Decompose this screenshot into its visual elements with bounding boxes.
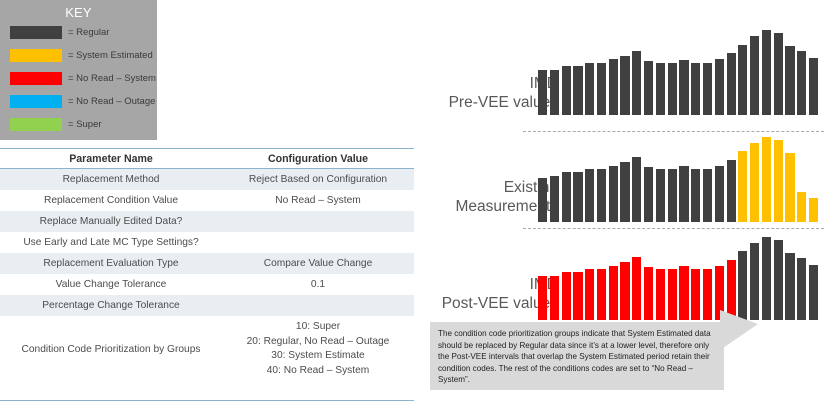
bar [632,257,641,320]
bar [774,140,783,222]
bar [538,276,547,320]
table-row: Value Change Tolerance0.1 [0,274,414,295]
bar [785,253,794,320]
bar [668,169,677,222]
bar [668,269,677,320]
key-swatch-no-read-outage [10,95,62,108]
bar [750,36,759,115]
bar [562,272,571,320]
table-row: Replacement MethodReject Based on Config… [0,169,414,191]
table-header-row: Parameter Name Configuration Value [0,149,414,169]
bar [715,59,724,115]
table-cell-configuration-value: Compare Value Change [222,253,414,274]
bar [750,143,759,222]
bar [691,63,700,115]
bar [774,33,783,115]
bar [738,151,747,222]
bar [538,178,547,222]
key-row-no-read-outage: = No Read – Outage [10,91,157,112]
bar [644,267,653,320]
bar [656,269,665,320]
chart-post-vee-bars [538,237,818,320]
bar [774,240,783,320]
table-row: Replacement Condition ValueNo Read – Sys… [0,190,414,211]
bar [797,258,806,320]
table-cell-configuration-value: Reject Based on Configuration [222,169,414,191]
bar [609,59,618,115]
chart-pre-vee-baseline [523,131,824,132]
key-label-no-read-outage: = No Read – Outage [68,96,155,107]
bar [679,60,688,115]
bar [609,166,618,222]
bar [679,266,688,320]
bar [785,153,794,222]
bar [597,269,606,320]
bar [715,166,724,222]
bar [797,192,806,222]
table-cell-parameter-name: Use Early and Late MC Type Settings? [0,232,222,253]
bar [573,66,582,115]
bar [738,45,747,115]
table-cell-parameter-name: Replacement Evaluation Type [0,253,222,274]
table-cell-configuration-value: 0.1 [222,274,414,295]
table-cell-parameter-name: Percentage Change Tolerance [0,295,222,316]
table-row: Percentage Change Tolerance [0,295,414,316]
bar [585,169,594,222]
bar [656,63,665,115]
parameter-configuration-table: Parameter Name Configuration Value Repla… [0,148,414,382]
chart-existing-bars [538,137,818,222]
key-legend-box: KEY = Regular= System Estimated= No Read… [0,0,157,140]
callout-box: The condition code prioritization groups… [430,322,724,390]
bar [809,265,818,320]
key-label-no-read-system: = No Read – System [68,73,156,84]
table-cell-parameter-name: Value Change Tolerance [0,274,222,295]
table-cell-configuration-value [222,211,414,232]
key-row-list: = Regular= System Estimated= No Read – S… [0,22,157,135]
bar [691,169,700,222]
bar [609,266,618,320]
table-row: Condition Code Prioritization by Groups1… [0,316,414,382]
table-cell-parameter-name: Condition Code Prioritization by Groups [0,316,222,382]
bar [750,243,759,320]
bar [762,30,771,115]
bar [809,198,818,222]
table-cell-configuration-value [222,232,414,253]
bar [585,63,594,115]
key-row-no-read-system: = No Read – System [10,68,157,89]
bar [550,70,559,115]
table-row: Replacement Evaluation TypeCompare Value… [0,253,414,274]
bar [597,63,606,115]
bar [550,276,559,320]
key-title: KEY [0,0,157,20]
key-row-system-estimated: = System Estimated [10,45,157,66]
table-cell-configuration-value [222,295,414,316]
bar [573,272,582,320]
bar [809,58,818,115]
bar [644,167,653,222]
key-swatch-no-read-system [10,72,62,85]
bar [620,162,629,222]
column-header-parameter-name: Parameter Name [0,149,222,169]
table-body: Replacement MethodReject Based on Config… [0,169,414,383]
table-row: Replace Manually Edited Data? [0,211,414,232]
table-cell-parameter-name: Replace Manually Edited Data? [0,211,222,232]
key-swatch-regular [10,26,62,39]
bar [656,169,665,222]
callout-pointer [720,310,758,350]
bar [762,137,771,222]
bar [573,172,582,222]
bar [703,63,712,115]
bar [727,53,736,115]
bar [727,160,736,222]
chart-pre-vee-bars [538,30,818,115]
bar [691,269,700,320]
table-row: Use Early and Late MC Type Settings? [0,232,414,253]
key-label-super: = Super [68,119,102,130]
bar [597,169,606,222]
bar [620,262,629,320]
bar [785,46,794,115]
key-swatch-super [10,118,62,131]
key-label-system-estimated: = System Estimated [68,50,153,61]
bar [585,269,594,320]
bar [550,176,559,222]
chart-existing-baseline [523,228,824,229]
bar [538,70,547,115]
key-swatch-system-estimated [10,49,62,62]
table-cell-parameter-name: Replacement Method [0,169,222,191]
bar [644,61,653,115]
bar [632,157,641,222]
table-cell-configuration-value: No Read – System [222,190,414,211]
bar [668,63,677,115]
bar [797,51,806,115]
bar [620,56,629,115]
bar [703,169,712,222]
bar [562,172,571,222]
table-bottom-rule [0,400,414,401]
bar [632,51,641,115]
table-cell-parameter-name: Replacement Condition Value [0,190,222,211]
key-label-regular: = Regular [68,27,109,38]
bar [679,166,688,222]
bar [703,269,712,320]
key-row-super: = Super [10,114,157,135]
callout-text: The condition code prioritization groups… [438,328,716,386]
column-header-configuration-value: Configuration Value [222,149,414,169]
table-cell-configuration-value: 10: Super 20: Regular, No Read – Outage … [222,316,414,382]
bar [562,66,571,115]
key-row-regular: = Regular [10,22,157,43]
bar [762,237,771,320]
